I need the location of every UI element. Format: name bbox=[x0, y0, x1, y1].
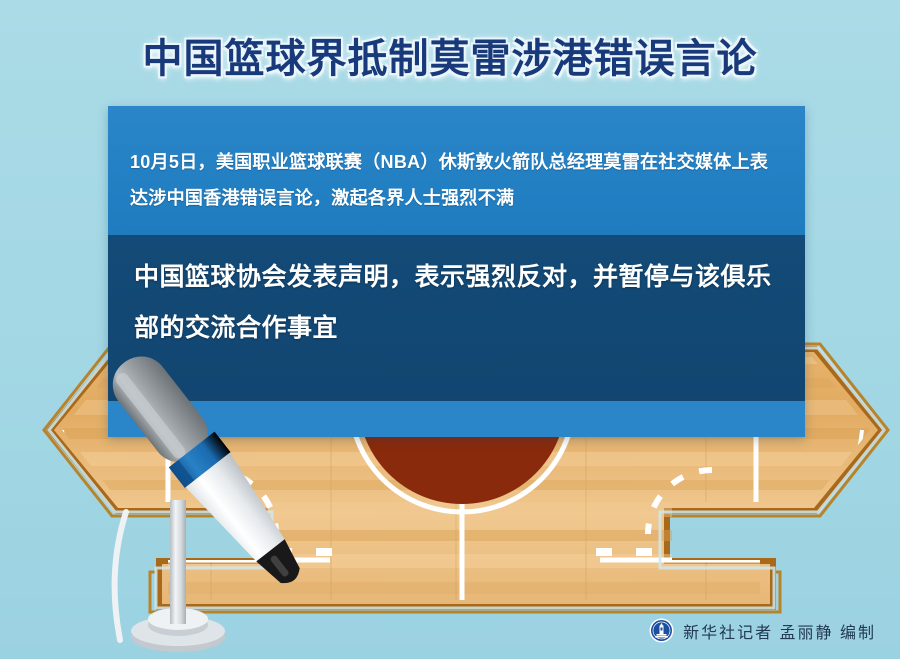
content-panel: 10月5日，美国职业篮球联赛（NBA）休斯敦火箭队总经理莫雷在社交媒体上表达涉中… bbox=[108, 106, 805, 437]
page-title: 中国篮球界抵制莫雷涉港错误言论 bbox=[143, 26, 758, 84]
panel-bottom-strip bbox=[108, 401, 805, 437]
credit-text: 新华社记者 孟丽静 编制 bbox=[683, 619, 876, 643]
poster-title-wrapper: 中国篮球界抵制莫雷涉港错误言论 bbox=[0, 26, 900, 84]
credit-line: 新华社记者 孟丽静 编制 bbox=[649, 618, 876, 643]
infographic-poster: 中国篮球界抵制莫雷涉港错误言论 10月5日，美国职业篮球联赛（NBA）休斯敦火箭… bbox=[0, 0, 900, 659]
main-statement-paragraph: 中国篮球协会发表声明，表示强烈反对，并暂停与该俱乐部的交流合作事宜 bbox=[134, 252, 789, 354]
xinhua-logo-icon bbox=[649, 618, 674, 643]
lead-paragraph: 10月5日，美国职业篮球联赛（NBA）休斯敦火箭队总经理莫雷在社交媒体上表达涉中… bbox=[130, 144, 785, 216]
